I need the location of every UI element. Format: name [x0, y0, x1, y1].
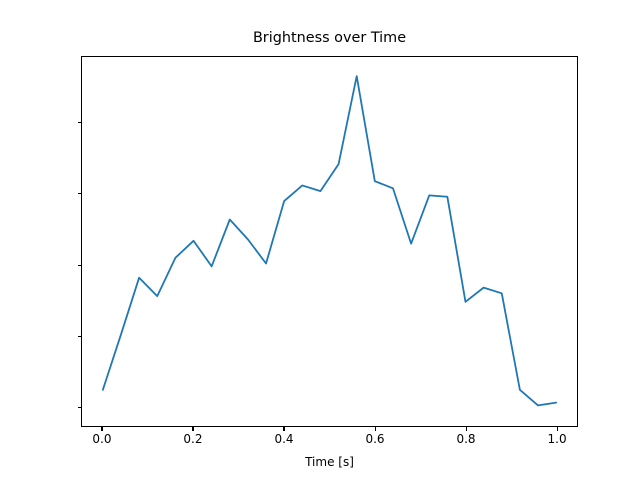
x-tick-mark [466, 427, 467, 431]
x-tick-label: 0.4 [274, 432, 293, 446]
x-tick-mark [283, 427, 284, 431]
x-tick-mark [375, 427, 376, 431]
data-series-brightness [103, 76, 556, 405]
x-tick-label: 0.8 [456, 432, 475, 446]
plot-area [81, 56, 578, 427]
matplotlib-figure: Brightness over Time Brightness 50100150… [0, 0, 640, 480]
x-axis-label: Time [s] [81, 455, 578, 469]
x-tick-label: 0.2 [183, 432, 202, 446]
x-tick-mark [192, 427, 193, 431]
x-tick-mark [101, 427, 102, 431]
line-chart-svg [82, 57, 577, 426]
chart-title: Brightness over Time [81, 30, 578, 47]
x-tick-mark [557, 427, 558, 431]
x-tick-label: 0.6 [365, 432, 384, 446]
x-tick-label: 0.0 [92, 432, 111, 446]
x-tick-label: 1.0 [548, 432, 567, 446]
